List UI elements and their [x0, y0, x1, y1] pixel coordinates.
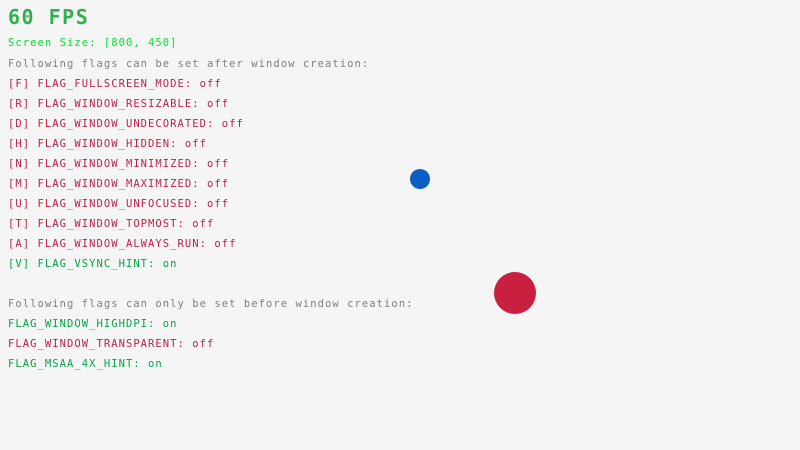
red-ball-shape [494, 272, 536, 314]
flag-row-vsync-hint[interactable]: [V] FLAG_VSYNC_HINT: on [8, 259, 178, 270]
flag-row-window-hidden[interactable]: [H] FLAG_WINDOW_HIDDEN: off [8, 139, 207, 150]
flag-row-window-minimized[interactable]: [N] FLAG_WINDOW_MINIMIZED: off [8, 159, 229, 170]
screen-size-label: Screen Size: [800, 450] [8, 38, 178, 49]
flag-row-window-transparent: FLAG_WINDOW_TRANSPARENT: off [8, 339, 214, 350]
flag-row-window-resizable[interactable]: [R] FLAG_WINDOW_RESIZABLE: off [8, 99, 229, 110]
flag-row-window-always-run[interactable]: [A] FLAG_WINDOW_ALWAYS_RUN: off [8, 239, 237, 250]
after-creation-header: Following flags can be set after window … [8, 59, 369, 70]
blue-ball-shape [410, 169, 430, 189]
flag-row-window-undecorated[interactable]: [D] FLAG_WINDOW_UNDECORATED: off [8, 119, 244, 130]
before-creation-header: Following flags can only be set before w… [8, 299, 413, 310]
flag-row-window-maximized[interactable]: [M] FLAG_WINDOW_MAXIMIZED: off [8, 179, 229, 190]
flag-row-msaa-4x-hint: FLAG_MSAA_4X_HINT: on [8, 359, 163, 370]
flag-row-fullscreen-mode[interactable]: [F] FLAG_FULLSCREEN_MODE: off [8, 79, 222, 90]
flag-row-window-unfocused[interactable]: [U] FLAG_WINDOW_UNFOCUSED: off [8, 199, 229, 210]
fps-counter: 60 FPS [8, 7, 89, 27]
app-canvas: 60 FPS Screen Size: [800, 450] Following… [0, 0, 800, 450]
flag-row-window-topmost[interactable]: [T] FLAG_WINDOW_TOPMOST: off [8, 219, 214, 230]
flag-row-window-highdpi: FLAG_WINDOW_HIGHDPI: on [8, 319, 178, 330]
